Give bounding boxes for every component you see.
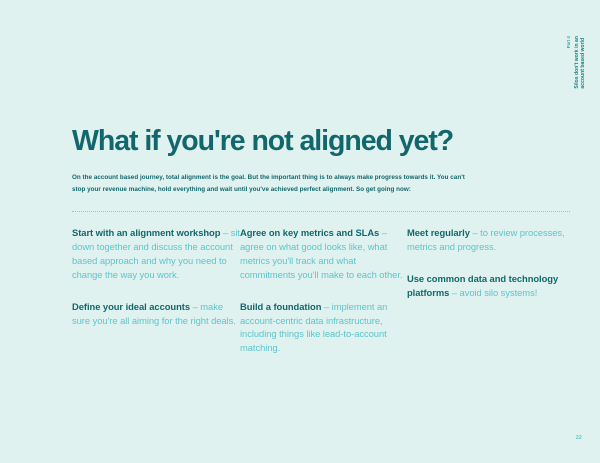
tip-item: Build a foundation – implement an accoun… — [240, 300, 407, 356]
tip-heading: Meet regularly — [407, 227, 470, 238]
tip-item: Use common data and technology platforms… — [407, 272, 577, 300]
tip-item: Meet regularly – to review processes, me… — [407, 226, 577, 254]
page-title: What if you're not aligned yet? — [72, 127, 453, 156]
intro-paragraph: On the account based journey, total alig… — [72, 172, 476, 195]
tip-heading: Start with an alignment workshop — [72, 227, 220, 238]
tip-item: Start with an alignment workshop – sit d… — [72, 226, 240, 282]
tips-columns: Start with an alignment workshop – sit d… — [72, 226, 577, 355]
side-chapter-title-line-2: account based world — [580, 36, 586, 89]
side-part-number: Part 4 — [567, 36, 572, 48]
tips-column-1: Start with an alignment workshop – sit d… — [72, 226, 240, 355]
tip-item: Define your ideal accounts – make sure y… — [72, 300, 240, 328]
page-number: 22 — [576, 435, 582, 441]
tip-heading: Define your ideal accounts — [72, 301, 190, 312]
side-chapter-title: Silos don't work in an account based wor… — [575, 36, 587, 89]
tip-heading: Agree on key metrics and SLAs — [240, 227, 379, 238]
dotted-divider — [72, 211, 570, 213]
tip-body: – avoid silo systems! — [449, 287, 537, 298]
tips-column-3: Meet regularly – to review processes, me… — [407, 226, 577, 355]
tip-heading: Build a foundation — [240, 301, 321, 312]
tips-column-2: Agree on key metrics and SLAs – agree on… — [240, 226, 407, 355]
slide-page: Part 4 Silos don't work in an account ba… — [0, 0, 600, 463]
side-chapter-label: Part 4 Silos don't work in an account ba… — [567, 36, 586, 116]
tip-item: Agree on key metrics and SLAs – agree on… — [240, 226, 407, 282]
